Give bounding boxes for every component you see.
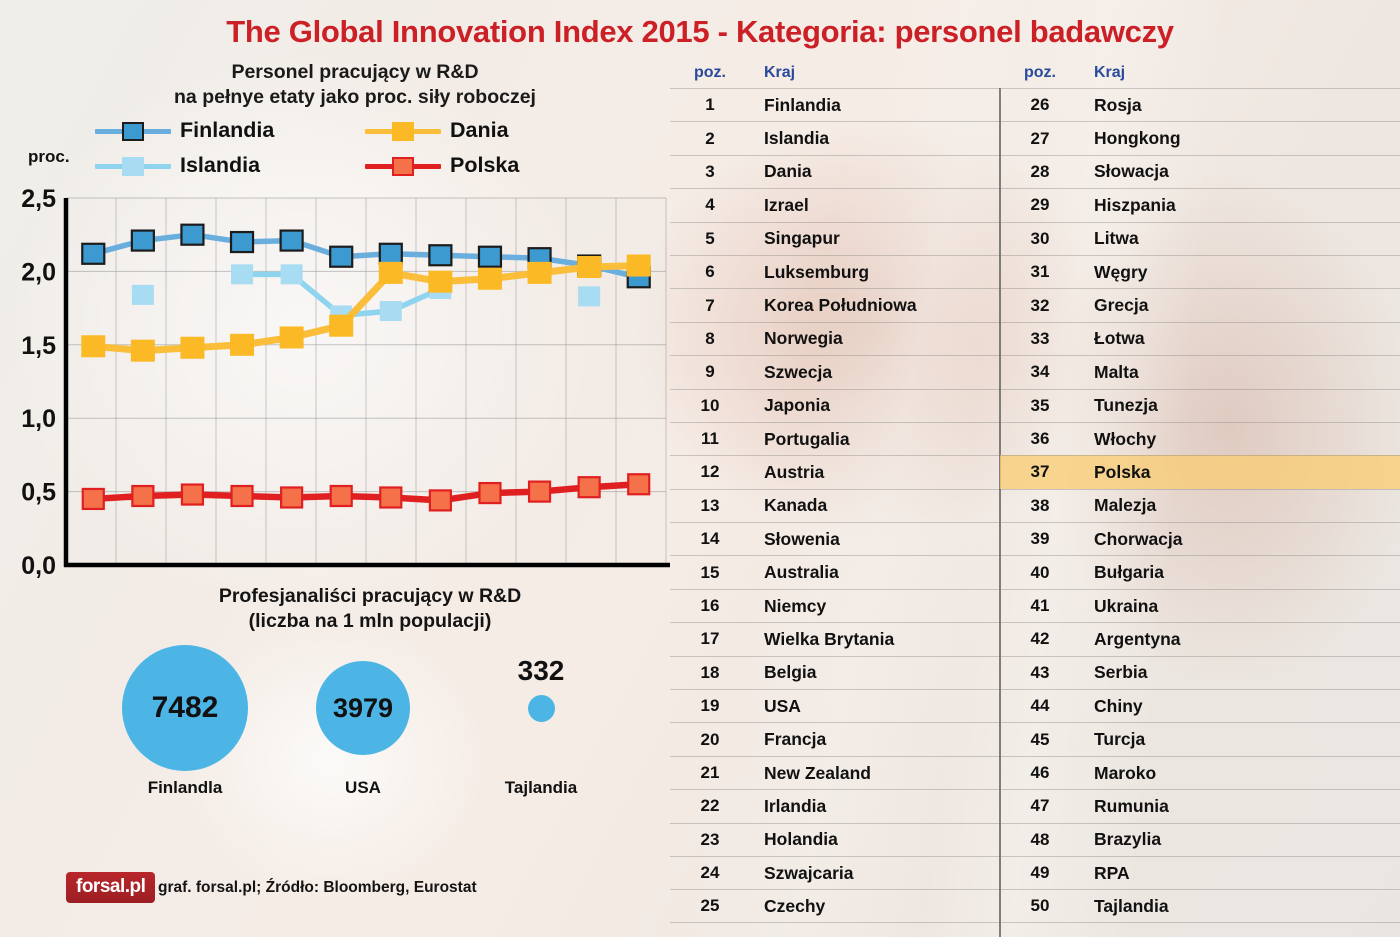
row-country: Holandia bbox=[750, 829, 838, 850]
row-position: 38 bbox=[1000, 496, 1080, 516]
row-position: 35 bbox=[1000, 396, 1080, 416]
table-row: 46Maroko bbox=[1000, 756, 1400, 789]
y-axis-unit-label: proc. bbox=[28, 147, 70, 167]
row-country: Belgia bbox=[750, 662, 817, 683]
row-position: 1 bbox=[670, 95, 750, 115]
row-position: 21 bbox=[670, 763, 750, 783]
table-row: 41Ukraina bbox=[1000, 589, 1400, 622]
data-point-polska bbox=[628, 474, 649, 494]
bubble-value-label: 7482 bbox=[152, 691, 219, 725]
row-country: Tunezja bbox=[1080, 395, 1158, 416]
ranking-table-left: poz. Kraj 1Finlandia2Islandia3Dania4Izra… bbox=[670, 58, 1000, 923]
table-row: 40Bułgaria bbox=[1000, 555, 1400, 588]
legend-item-dania: Dania bbox=[365, 118, 635, 143]
data-point-finlandia bbox=[231, 232, 253, 252]
data-point-polska bbox=[331, 486, 352, 506]
table-row: 36Włochy bbox=[1000, 422, 1400, 455]
data-point-islandia bbox=[380, 301, 402, 321]
row-position: 17 bbox=[670, 629, 750, 649]
legend-label-polska: Polska bbox=[450, 153, 519, 178]
row-position: 11 bbox=[670, 429, 750, 449]
row-country: Włochy bbox=[1080, 429, 1156, 450]
row-position: 30 bbox=[1000, 229, 1080, 249]
row-country: Serbia bbox=[1080, 662, 1148, 683]
data-point-polska bbox=[132, 486, 153, 506]
header-poz-left: poz. bbox=[670, 64, 750, 82]
row-country: Portugalia bbox=[750, 429, 850, 450]
table-row: 44Chiny bbox=[1000, 689, 1400, 722]
table-row: 32Grecja bbox=[1000, 288, 1400, 321]
table-row: 8Norwegia bbox=[670, 322, 1000, 355]
data-point-finlandia bbox=[380, 244, 402, 264]
row-position: 14 bbox=[670, 529, 750, 549]
table-row: 47Rumunia bbox=[1000, 789, 1400, 822]
y-tick-label: 1,0 bbox=[21, 405, 56, 433]
legend-item-islandia: Islandia bbox=[95, 153, 365, 178]
row-country: Australia bbox=[750, 562, 839, 583]
legend-label-finlandia: Finlandia bbox=[180, 118, 274, 143]
row-country: Szwecja bbox=[750, 362, 832, 383]
table-row: 20Francja bbox=[670, 722, 1000, 755]
row-country: RPA bbox=[1080, 863, 1130, 884]
legend-item-finlandia: Finlandia bbox=[95, 118, 365, 143]
table-row: 6Luksemburg bbox=[670, 255, 1000, 288]
legend-label-dania: Dania bbox=[450, 118, 509, 143]
data-point-polska bbox=[529, 482, 550, 502]
table-row: 21New Zealand bbox=[670, 756, 1000, 789]
row-country: Litwa bbox=[1080, 228, 1139, 249]
bubble-item: 7482Finlandla bbox=[95, 605, 275, 798]
row-position: 15 bbox=[670, 563, 750, 583]
row-country: Norwegia bbox=[750, 328, 843, 349]
table-row: 48Brazylia bbox=[1000, 823, 1400, 856]
table-row: 12Austria bbox=[670, 455, 1000, 488]
table-row: 25Czechy bbox=[670, 889, 1000, 922]
bubble-circle bbox=[528, 695, 555, 722]
table-row: 15Australia bbox=[670, 555, 1000, 588]
ranking-header-left: poz. Kraj bbox=[670, 58, 1000, 88]
data-point-polska bbox=[232, 486, 253, 506]
row-country: Francja bbox=[750, 729, 826, 750]
row-country: Szwajcaria bbox=[750, 863, 854, 884]
row-position: 43 bbox=[1000, 663, 1080, 683]
source-credit: graf. forsal.pl; Źródło: Bloomberg, Euro… bbox=[158, 879, 477, 897]
row-position: 2 bbox=[670, 129, 750, 149]
row-country: Maroko bbox=[1080, 763, 1156, 784]
row-position: 8 bbox=[670, 329, 750, 349]
table-row: 38Malezja bbox=[1000, 489, 1400, 522]
table-row: 27Hongkong bbox=[1000, 121, 1400, 154]
ranking-header-right: poz. Kraj bbox=[1000, 58, 1400, 88]
bubble-category-label: Finlandla bbox=[95, 778, 275, 798]
row-position: 9 bbox=[670, 362, 750, 382]
bubble-value-label: 3979 bbox=[333, 693, 393, 724]
legend-label-islandia: Islandia bbox=[180, 153, 260, 178]
table-row: 33Łotwa bbox=[1000, 322, 1400, 355]
row-position: 19 bbox=[670, 696, 750, 716]
infographic-root: The Global Innovation Index 2015 - Kateg… bbox=[0, 0, 1400, 937]
legend-swatch-islandia bbox=[95, 155, 171, 177]
data-point-dania bbox=[428, 271, 452, 293]
bubble-value-label: 332 bbox=[451, 655, 631, 687]
data-point-dania bbox=[180, 337, 204, 359]
table-row: 4Izrael bbox=[670, 188, 1000, 221]
row-position: 44 bbox=[1000, 696, 1080, 716]
data-point-dania bbox=[81, 335, 105, 357]
row-position: 13 bbox=[670, 496, 750, 516]
data-point-finlandia bbox=[82, 244, 104, 264]
data-point-polska bbox=[281, 487, 302, 507]
y-tick-label: 1,5 bbox=[21, 332, 56, 360]
row-position: 5 bbox=[670, 229, 750, 249]
legend-swatch-dania bbox=[365, 120, 441, 142]
row-position: 41 bbox=[1000, 596, 1080, 616]
row-country: Malta bbox=[1080, 362, 1139, 383]
bubble-circle: 3979 bbox=[316, 661, 410, 755]
data-point-islandia bbox=[281, 264, 303, 284]
row-country: Turcja bbox=[1080, 729, 1145, 750]
row-country: Kanada bbox=[750, 495, 827, 516]
data-point-finlandia bbox=[132, 231, 154, 251]
row-position: 12 bbox=[670, 462, 750, 482]
line-chart-heading-line1: Personel pracujący w R&D bbox=[95, 60, 615, 85]
row-country: New Zealand bbox=[750, 763, 871, 784]
table-row: 35Tunezja bbox=[1000, 389, 1400, 422]
row-country: Dania bbox=[750, 161, 812, 182]
row-country: Hiszpania bbox=[1080, 195, 1176, 216]
ranking-rows-left: 1Finlandia2Islandia3Dania4Izrael5Singapu… bbox=[670, 88, 1000, 923]
ranking-table-right: poz. Kraj 26Rosja27Hongkong28Słowacja29H… bbox=[1000, 58, 1400, 923]
row-country: Luksemburg bbox=[750, 262, 869, 283]
table-row: 37Polska bbox=[1000, 455, 1400, 488]
table-row: 16Niemcy bbox=[670, 589, 1000, 622]
line-chart-plot: 0,00,51,01,52,02,5 bbox=[18, 186, 678, 581]
row-country: Japonia bbox=[750, 395, 830, 416]
row-position: 23 bbox=[670, 830, 750, 850]
table-row: 45Turcja bbox=[1000, 722, 1400, 755]
row-position: 46 bbox=[1000, 763, 1080, 783]
row-country: Polska bbox=[1080, 462, 1150, 483]
row-country: Łotwa bbox=[1080, 328, 1145, 349]
table-row: 43Serbia bbox=[1000, 656, 1400, 689]
legend-swatch-finlandia bbox=[95, 120, 171, 142]
row-position: 31 bbox=[1000, 262, 1080, 282]
data-point-dania bbox=[230, 334, 254, 356]
row-country: Korea Południowa bbox=[750, 295, 917, 316]
row-position: 16 bbox=[670, 596, 750, 616]
table-row: 9Szwecja bbox=[670, 355, 1000, 388]
data-point-finlandia bbox=[330, 247, 352, 267]
row-position: 24 bbox=[670, 863, 750, 883]
table-row: 29Hiszpania bbox=[1000, 188, 1400, 221]
table-row: 19USA bbox=[670, 689, 1000, 722]
bubble-category-label: USA bbox=[273, 778, 453, 798]
table-row: 3Dania bbox=[670, 155, 1000, 188]
row-position: 26 bbox=[1000, 95, 1080, 115]
row-position: 29 bbox=[1000, 195, 1080, 215]
table-row: 49RPA bbox=[1000, 856, 1400, 889]
table-row: 24Szwajcaria bbox=[670, 856, 1000, 889]
row-position: 32 bbox=[1000, 296, 1080, 316]
data-point-polska bbox=[182, 485, 203, 505]
row-country: Islandia bbox=[750, 128, 829, 149]
row-country: Ukraina bbox=[1080, 596, 1158, 617]
table-row: 26Rosja bbox=[1000, 88, 1400, 121]
table-row: 17Wielka Brytania bbox=[670, 622, 1000, 655]
page-title: The Global Innovation Index 2015 - Kateg… bbox=[0, 14, 1400, 50]
row-country: USA bbox=[750, 696, 801, 717]
row-position: 6 bbox=[670, 262, 750, 282]
row-position: 48 bbox=[1000, 830, 1080, 850]
data-point-polska bbox=[579, 477, 600, 497]
data-point-polska bbox=[380, 487, 401, 507]
table-row: 13Kanada bbox=[670, 489, 1000, 522]
y-tick-label: 0,5 bbox=[21, 479, 56, 507]
row-position: 3 bbox=[670, 162, 750, 182]
data-point-dania bbox=[379, 262, 403, 284]
chart-legend: Finlandia Dania Islandia Polska bbox=[95, 118, 635, 178]
table-row: 11Portugalia bbox=[670, 422, 1000, 455]
y-tick-label: 0,0 bbox=[21, 552, 56, 580]
row-country: Słowenia bbox=[750, 529, 840, 550]
row-position: 34 bbox=[1000, 362, 1080, 382]
row-country: Singapur bbox=[750, 228, 840, 249]
row-position: 40 bbox=[1000, 563, 1080, 583]
row-position: 39 bbox=[1000, 529, 1080, 549]
row-country: Izrael bbox=[750, 195, 809, 216]
data-point-dania bbox=[577, 256, 601, 278]
row-position: 18 bbox=[670, 663, 750, 683]
forsal-logo: forsal.pl bbox=[66, 872, 155, 903]
table-row: 50Tajlandia bbox=[1000, 889, 1400, 922]
bubble-category-label: Tajlandia bbox=[451, 778, 631, 798]
row-position: 25 bbox=[670, 896, 750, 916]
row-position: 42 bbox=[1000, 629, 1080, 649]
header-kraj-right: Kraj bbox=[1080, 64, 1125, 82]
data-point-islandia bbox=[132, 285, 154, 305]
table-row: 5Singapur bbox=[670, 222, 1000, 255]
line-chart-heading: Personel pracujący w R&D na pełnye etaty… bbox=[95, 60, 615, 110]
data-point-islandia bbox=[231, 264, 253, 284]
data-point-dania bbox=[627, 255, 651, 277]
row-country: Chorwacja bbox=[1080, 529, 1183, 550]
row-position: 28 bbox=[1000, 162, 1080, 182]
table-row: 18Belgia bbox=[670, 656, 1000, 689]
data-point-polska bbox=[83, 489, 104, 509]
line-chart-heading-line2: na pełnye etaty jako proc. siły roboczej bbox=[95, 85, 615, 110]
data-point-dania bbox=[329, 315, 353, 337]
data-point-polska bbox=[430, 490, 451, 510]
row-position: 4 bbox=[670, 195, 750, 215]
row-position: 22 bbox=[670, 796, 750, 816]
data-point-dania bbox=[478, 268, 502, 290]
row-position: 33 bbox=[1000, 329, 1080, 349]
legend-swatch-polska bbox=[365, 155, 441, 177]
row-position: 27 bbox=[1000, 129, 1080, 149]
row-country: Hongkong bbox=[1080, 128, 1181, 149]
bubble-item: 3979USA bbox=[273, 621, 453, 798]
header-kraj-left: Kraj bbox=[750, 64, 795, 82]
row-country: Malezja bbox=[1080, 495, 1156, 516]
table-row: 7Korea Południowa bbox=[670, 288, 1000, 321]
row-position: 49 bbox=[1000, 863, 1080, 883]
row-position: 45 bbox=[1000, 730, 1080, 750]
row-position: 20 bbox=[670, 730, 750, 750]
row-country: Finlandia bbox=[750, 95, 841, 116]
table-row: 22Irlandia bbox=[670, 789, 1000, 822]
bubble-spacer bbox=[95, 605, 275, 645]
row-country: Argentyna bbox=[1080, 629, 1181, 650]
row-country: Niemcy bbox=[750, 596, 826, 617]
row-country: Czechy bbox=[750, 896, 825, 917]
data-point-finlandia bbox=[479, 247, 501, 267]
row-position: 50 bbox=[1000, 896, 1080, 916]
table-row: 31Węgry bbox=[1000, 255, 1400, 288]
table-row: 30Litwa bbox=[1000, 222, 1400, 255]
table-row: 42Argentyna bbox=[1000, 622, 1400, 655]
data-point-dania bbox=[528, 262, 552, 284]
table-row: 28Słowacja bbox=[1000, 155, 1400, 188]
bubble-spacer bbox=[273, 621, 453, 661]
data-point-finlandia bbox=[281, 231, 303, 251]
line-chart-svg: 0,00,51,01,52,02,5 bbox=[18, 186, 678, 581]
row-position: 7 bbox=[670, 296, 750, 316]
row-country: Irlandia bbox=[750, 796, 826, 817]
row-country: Węgry bbox=[1080, 262, 1147, 283]
row-country: Słowacja bbox=[1080, 161, 1169, 182]
row-position: 47 bbox=[1000, 796, 1080, 816]
row-country: Grecja bbox=[1080, 295, 1148, 316]
legend-item-polska: Polska bbox=[365, 153, 635, 178]
data-point-dania bbox=[280, 326, 304, 348]
row-country: Chiny bbox=[1080, 696, 1143, 717]
table-row: 14Słowenia bbox=[670, 522, 1000, 555]
data-point-polska bbox=[479, 483, 500, 503]
data-point-finlandia bbox=[181, 225, 203, 245]
header-poz-right: poz. bbox=[1000, 64, 1080, 82]
data-point-dania bbox=[131, 340, 155, 362]
table-row: 1Finlandia bbox=[670, 88, 1000, 121]
y-tick-label: 2,5 bbox=[21, 186, 56, 213]
row-position: 36 bbox=[1000, 429, 1080, 449]
y-tick-label: 2,0 bbox=[21, 258, 56, 286]
row-country: Wielka Brytania bbox=[750, 629, 894, 650]
table-row: 23Holandia bbox=[670, 823, 1000, 856]
table-row: 34Malta bbox=[1000, 355, 1400, 388]
row-country: Rumunia bbox=[1080, 796, 1169, 817]
bubble-item: 332Tajlandia bbox=[451, 655, 631, 799]
row-position: 10 bbox=[670, 396, 750, 416]
table-row: 10Japonia bbox=[670, 389, 1000, 422]
data-point-finlandia bbox=[429, 245, 451, 265]
data-point-islandia bbox=[578, 286, 600, 306]
row-country: Tajlandia bbox=[1080, 896, 1169, 917]
row-country: Bułgaria bbox=[1080, 562, 1164, 583]
row-country: Austria bbox=[750, 462, 824, 483]
row-position: 37 bbox=[1000, 462, 1080, 482]
table-row: 39Chorwacja bbox=[1000, 522, 1400, 555]
bubble-circle: 7482 bbox=[122, 645, 248, 771]
row-country: Rosja bbox=[1080, 95, 1142, 116]
row-country: Brazylia bbox=[1080, 829, 1161, 850]
ranking-rows-right: 26Rosja27Hongkong28Słowacja29Hiszpania30… bbox=[1000, 88, 1400, 923]
table-row: 2Islandia bbox=[670, 121, 1000, 154]
